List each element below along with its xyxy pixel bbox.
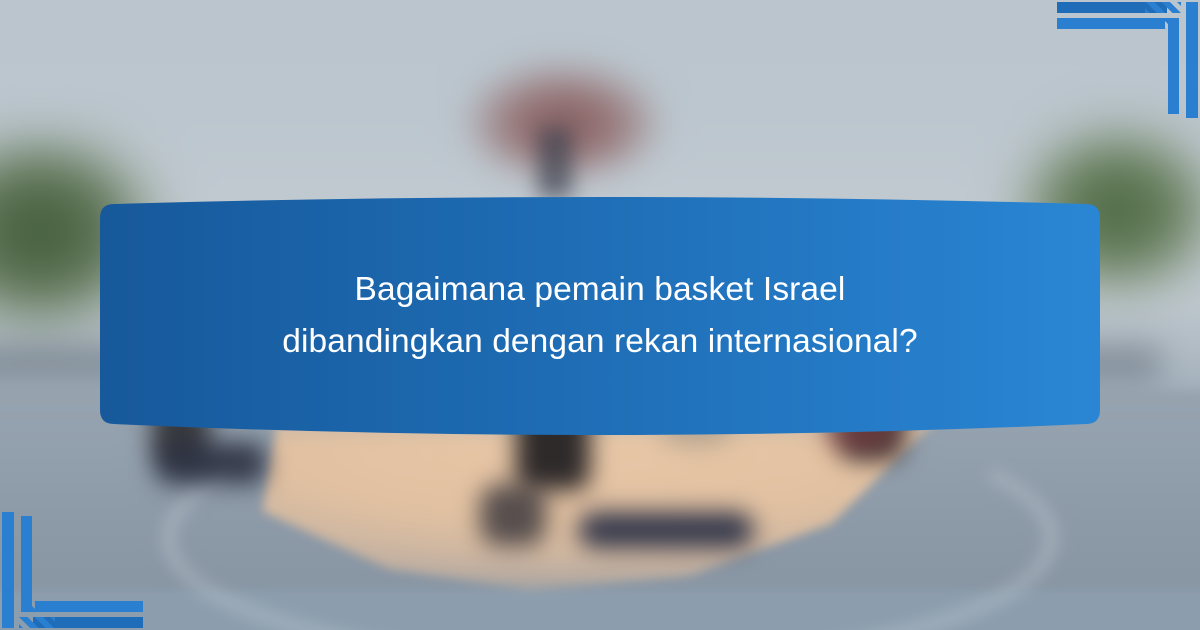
corner-decoration-top-right [1035,0,1200,120]
social-share-card: Bagaimana pemain basket Israel dibanding… [0,0,1200,630]
corner-decoration-bottom-left [0,510,165,630]
headline-line-2: dibandingkan dengan rekan internasional? [282,316,917,368]
headline-text: Bagaimana pemain basket Israel dibanding… [100,196,1100,436]
headline-line-1: Bagaimana pemain basket Israel [355,264,846,316]
hoop-post [538,128,572,198]
player-left-shoe [156,442,266,484]
player-center-shoe [578,512,754,548]
player-center-leg-2 [480,484,546,546]
